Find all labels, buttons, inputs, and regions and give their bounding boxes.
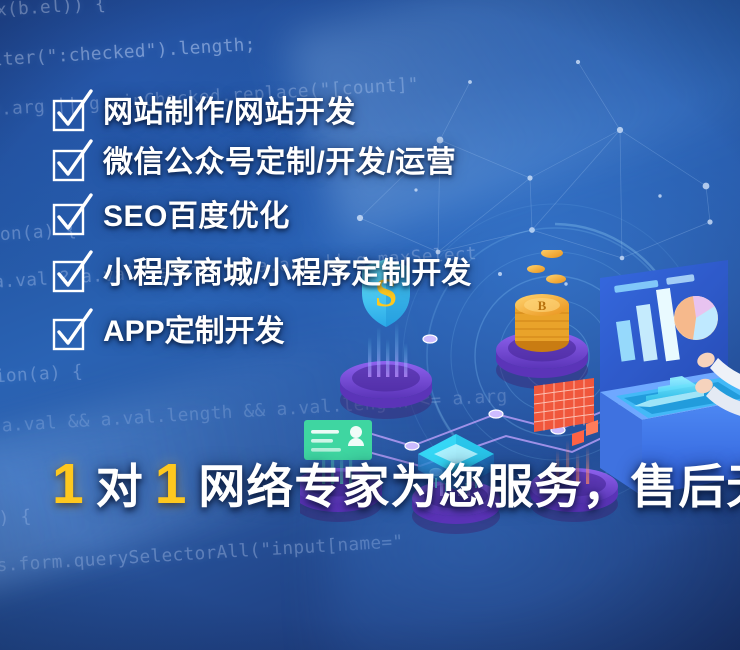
headline-middle-word: 对 [96, 448, 144, 517]
service-item-label: 小程序商城/小程序定制开发 [103, 257, 471, 290]
service-item-website[interactable]: 网站制作/网站开发 [54, 96, 694, 129]
promo-headline: 1 对 1 网络专家为您服务，售后无忧！ [52, 448, 740, 517]
service-item-app[interactable]: APP定制开发 [54, 315, 694, 348]
service-item-label: APP定制开发 [103, 315, 285, 348]
checked-box-icon [54, 148, 84, 178]
service-item-seo[interactable]: SEO百度优化 [54, 200, 694, 233]
headline-tail-text: 网络专家为您服务，售后无忧！ [198, 448, 740, 517]
checked-box-icon [54, 317, 84, 347]
service-item-label: 网站制作/网站开发 [103, 96, 356, 129]
service-item-label: 微信公众号定制/开发/运营 [103, 146, 456, 179]
headline-number-second: 1 [155, 456, 188, 513]
service-item-miniprogram[interactable]: 小程序商城/小程序定制开发 [54, 257, 694, 290]
headline-number-first: 1 [52, 456, 85, 513]
service-item-wechat[interactable]: 微信公众号定制/开发/运营 [54, 146, 694, 179]
promo-banner: g.jqueryBootsKill("input[type=checkbox][… [0, 0, 740, 650]
checked-box-icon [54, 259, 84, 289]
service-item-label: SEO百度优化 [103, 200, 290, 233]
service-list: 网站制作/网站开发 微信公众号定制/开发/运营 SEO百度优化 [54, 96, 694, 365]
checked-box-icon [54, 98, 84, 128]
checked-box-icon [54, 202, 84, 232]
